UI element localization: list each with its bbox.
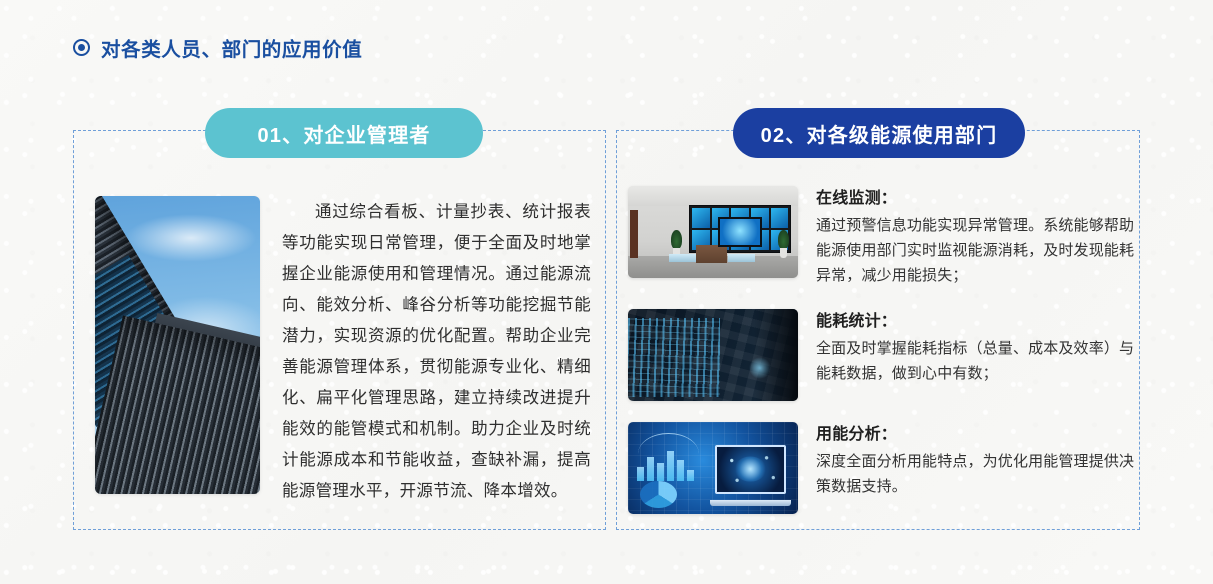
control-room-video-wall-photo [628, 186, 798, 278]
keyboard-data-overlay-photo [628, 309, 798, 401]
list-item: 能耗统计： 全面及时掌握能耗指标（总量、成本及效率）与能耗数据，做到心中有数； [628, 309, 1148, 401]
office-towers-photo [95, 196, 260, 494]
item-description: 通过预警信息功能实现异常管理。系统能够帮助能源使用部门实时监视能源消耗，及时发现… [816, 213, 1148, 288]
item-heading: 用能分析： [816, 423, 1148, 447]
list-item: 在线监测： 通过预警信息功能实现异常管理。系统能够帮助能源使用部门实时监视能源消… [628, 186, 1148, 288]
energy-departments-list: 在线监测： 通过预警信息功能实现异常管理。系统能够帮助能源使用部门实时监视能源消… [628, 186, 1148, 535]
item-heading: 在线监测： [816, 187, 1148, 211]
enterprise-managers-content: 通过综合看板、计量抄表、统计报表等功能实现日常管理，便于全面及时地掌握企业能源使… [95, 196, 591, 507]
page-title: 对各类人员、部门的应用价值 [101, 33, 362, 62]
item-description: 全面及时掌握能耗指标（总量、成本及效率）与能耗数据，做到心中有数； [816, 336, 1148, 386]
item-heading: 能耗统计： [816, 310, 1148, 334]
item-description: 深度全面分析用能特点，为优化用能管理提供决策数据支持。 [816, 449, 1148, 499]
badge-section-02: 02、对各级能源使用部门 [733, 108, 1025, 158]
list-item: 用能分析： 深度全面分析用能特点，为优化用能管理提供决策数据支持。 [628, 422, 1148, 514]
page-header: 对各类人员、部门的应用价值 [73, 30, 362, 64]
badge-section-01: 01、对企业管理者 [205, 108, 483, 158]
data-analytics-laptop-photo [628, 422, 798, 514]
enterprise-managers-paragraph: 通过综合看板、计量抄表、统计报表等功能实现日常管理，便于全面及时地掌握企业能源使… [282, 196, 591, 507]
bullseye-icon [73, 39, 90, 56]
